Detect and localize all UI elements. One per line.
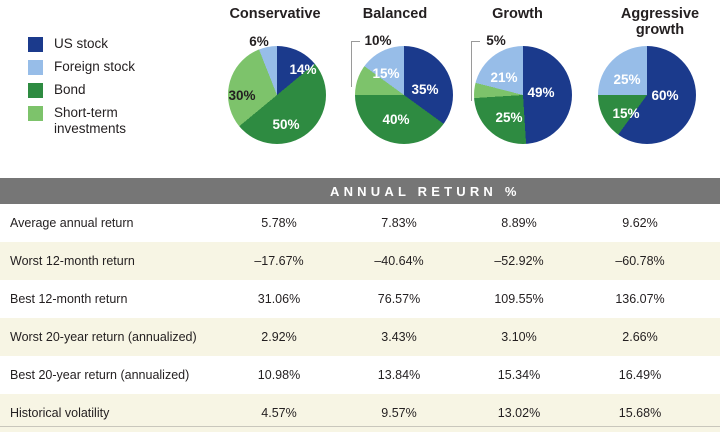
pie-slice-label-balanced-bond: 40% [376,112,416,127]
table-header-band: ANNUAL RETURN % [0,178,720,204]
leader-line-growth-vertical [471,41,472,101]
table-cell: 76.57% [344,292,454,306]
legend-item-us-stock: US stock [28,36,208,52]
table-cell: 13.02% [464,406,574,420]
legend-swatch-short-term [28,106,43,121]
row-label: Historical volatility [10,406,109,420]
pie-slice-label-aggressive-foreign: 25% [607,72,647,87]
pie-title-balanced: Balanced [345,6,445,22]
legend-item-bond: Bond [28,82,208,98]
pie-slice-label-balanced-foreign: 15% [366,66,406,81]
legend-label-short-term: Short-term investments [54,105,164,136]
infographic-root: US stock Foreign stock Bond Short-term i… [0,0,720,445]
pie-slice-label-conservative-foreign: 6% [239,34,279,49]
table-bottom-rule [0,426,720,427]
row-label: Worst 12-month return [10,254,135,268]
table-cell: 2.92% [224,330,334,344]
legend-swatch-us-stock [28,37,43,52]
pie-slice-label-balanced-short: 10% [358,33,398,48]
table-cell: –40.64% [344,254,454,268]
legend-item-short-term: Short-term investments [28,105,208,136]
legend-swatch-bond [28,83,43,98]
table-cell: –60.78% [585,254,695,268]
legend: US stock Foreign stock Bond Short-term i… [28,36,208,143]
pie-slice-label-aggressive-bond: 15% [606,106,646,121]
table-cell: 5.78% [224,216,334,230]
row-label: Best 12-month return [10,292,127,306]
table-cell: 15.68% [585,406,695,420]
table-cell: 4.57% [224,406,334,420]
table-cell: –52.92% [464,254,574,268]
leader-line-growth-horizontal [471,41,480,42]
table-header-title: ANNUAL RETURN % [330,184,521,199]
table-row: Worst 12-month return –17.67% –40.64% –5… [0,242,720,280]
pie-slice-label-conservative-us: 14% [283,62,323,77]
table-cell: 15.34% [464,368,574,382]
table-row: Best 20-year return (annualized) 10.98% … [0,356,720,394]
pie-title-growth: Growth [470,6,565,22]
table-cell: 109.55% [464,292,574,306]
legend-label-us-stock: US stock [54,36,108,52]
row-label: Worst 20-year return (annualized) [10,330,197,344]
table-cell: 13.84% [344,368,454,382]
table-cell: 136.07% [585,292,695,306]
table-cell: 10.98% [224,368,334,382]
table-cell: 2.66% [585,330,695,344]
legend-label-bond: Bond [54,82,86,98]
pie-title-aggressive-growth: Aggressive growth [610,6,710,38]
pie-slice-label-growth-us: 49% [521,85,561,100]
pie-slice-label-conservative-bond: 50% [266,117,306,132]
table-cell: 3.43% [344,330,454,344]
row-label: Best 20-year return (annualized) [10,368,189,382]
pie-title-conservative: Conservative [215,6,335,22]
pie-slice-label-conservative-short: 30% [222,88,262,103]
leader-line-balanced-horizontal [351,41,360,42]
table-cell: 16.49% [585,368,695,382]
legend-item-foreign-stock: Foreign stock [28,59,208,75]
table-cell: 31.06% [224,292,334,306]
legend-swatch-foreign-stock [28,60,43,75]
legend-label-foreign-stock: Foreign stock [54,59,135,75]
pie-slice-label-growth-foreign: 21% [484,70,524,85]
row-label: Average annual return [10,216,133,230]
leader-line-balanced-vertical [351,41,352,87]
table-cell: –17.67% [224,254,334,268]
table-row: Best 12-month return 31.06% 76.57% 109.5… [0,280,720,318]
pie-slice-label-balanced-us: 35% [405,82,445,97]
pie-slice-label-growth-short: 5% [481,33,511,48]
annual-return-table: ANNUAL RETURN % Average annual return 5.… [0,178,720,432]
table-cell: 3.10% [464,330,574,344]
table-cell: 8.89% [464,216,574,230]
table-cell: 9.62% [585,216,695,230]
table-row: Average annual return 5.78% 7.83% 8.89% … [0,204,720,242]
table-row: Worst 20-year return (annualized) 2.92% … [0,318,720,356]
table-cell: 9.57% [344,406,454,420]
pie-slice-label-aggressive-us: 60% [645,88,685,103]
pie-slice-label-growth-bond: 25% [489,110,529,125]
table-cell: 7.83% [344,216,454,230]
